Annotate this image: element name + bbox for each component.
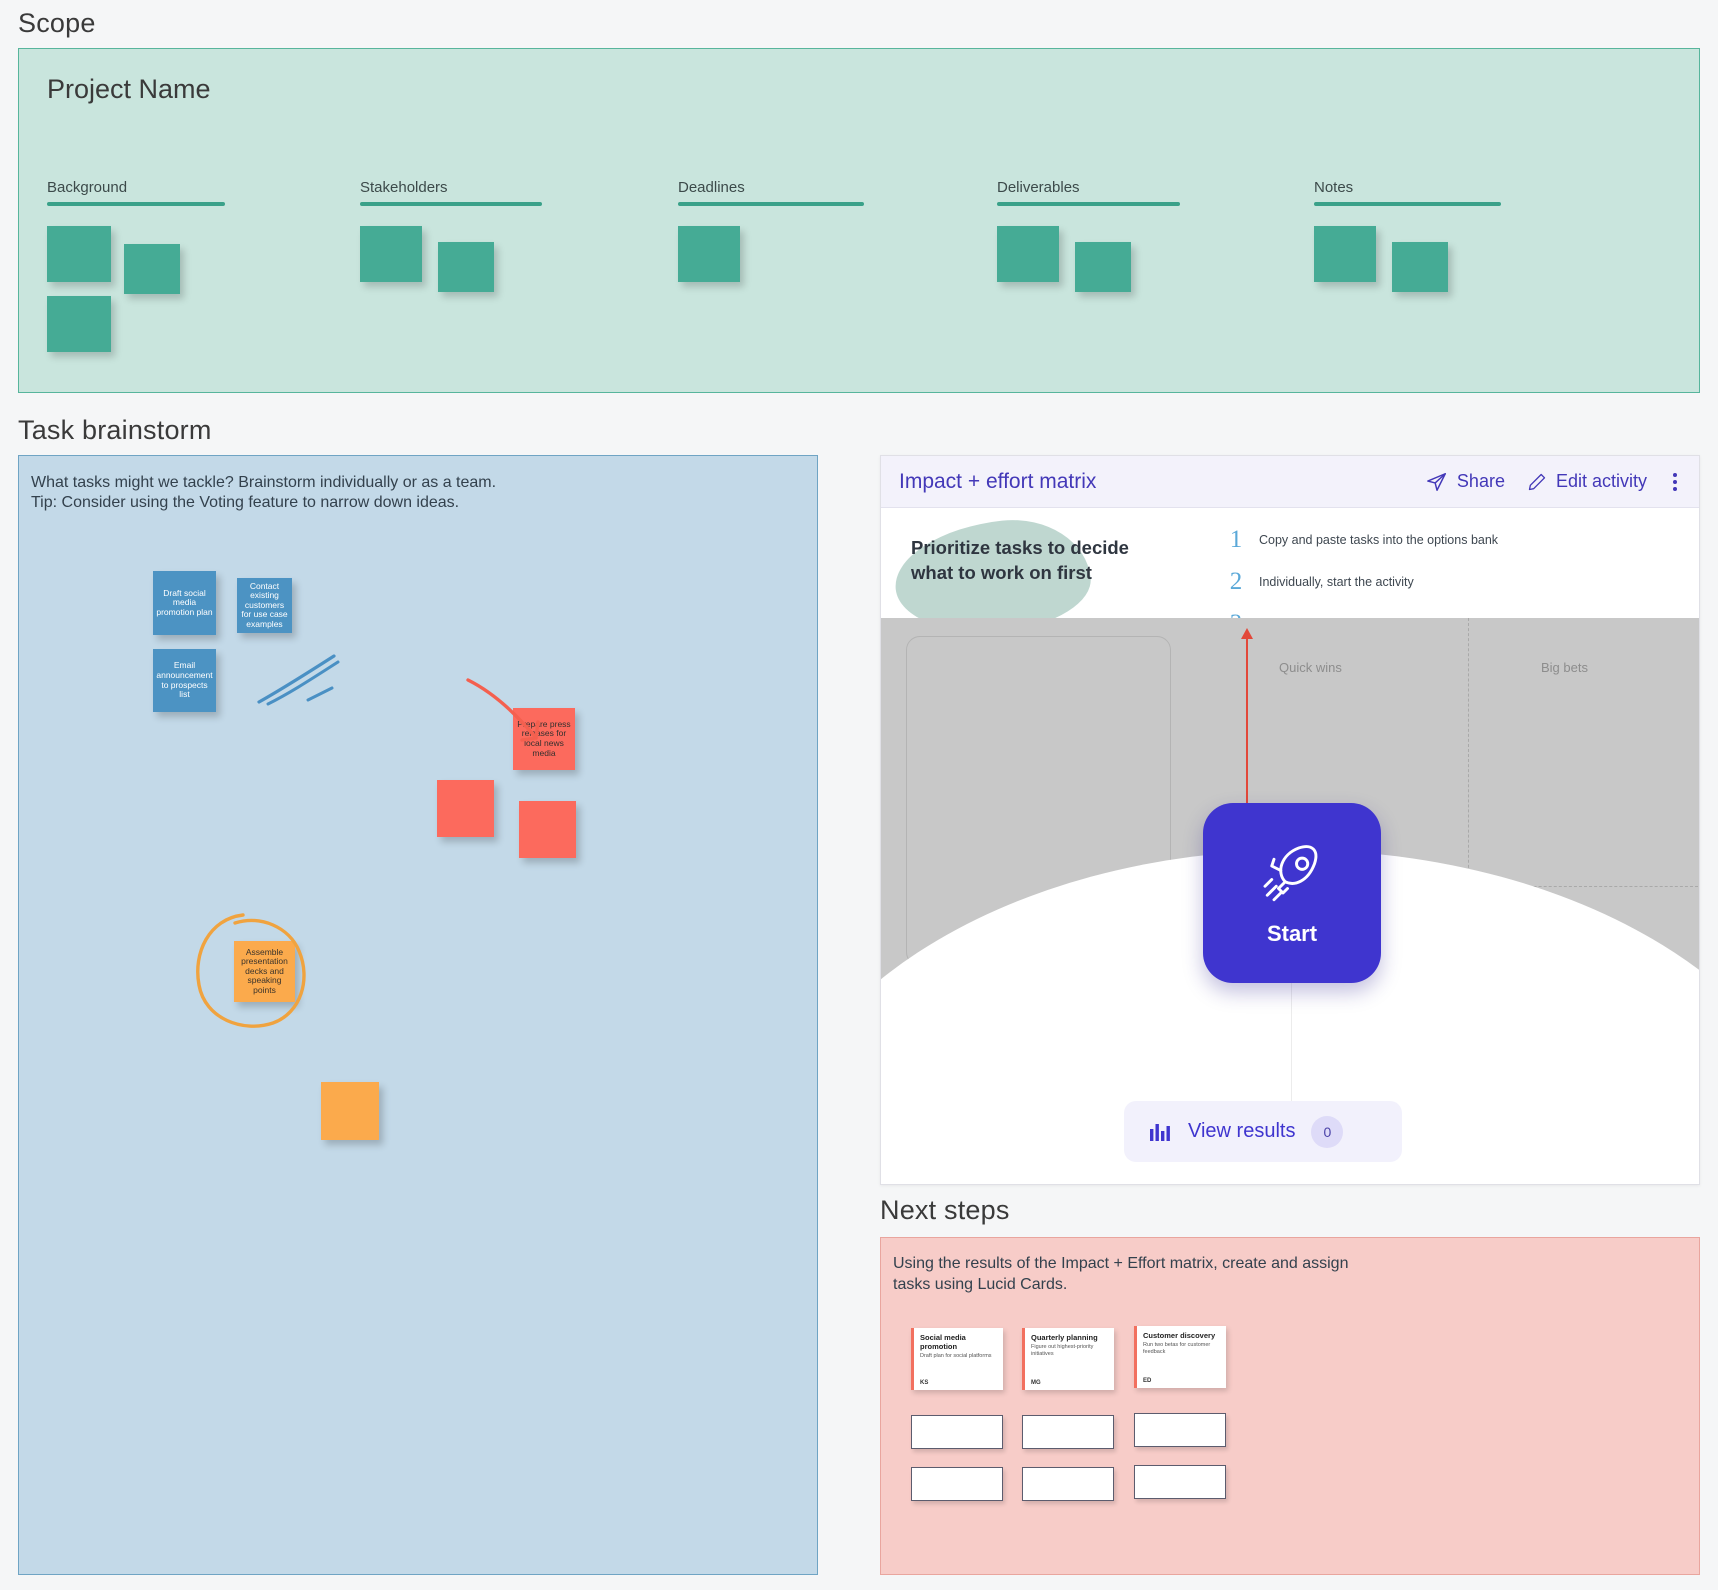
sticky-note-empty-orange[interactable]	[321, 1082, 379, 1140]
scope-column-deadlines: Deadlines	[678, 179, 864, 376]
lucid-card-customer-discovery[interactable]: Customer discovery Run two betas for cus…	[1134, 1326, 1226, 1388]
column-label: Background	[47, 179, 225, 202]
sticky-note-empty-red-2[interactable]	[519, 801, 576, 858]
sticky-note[interactable]	[360, 226, 422, 282]
column-label: Deliverables	[997, 179, 1180, 202]
quadrant-label-quick-wins: Quick wins	[1279, 660, 1342, 675]
lucid-card-quarterly-planning[interactable]: Quarterly planning Figure out highest-pr…	[1022, 1328, 1114, 1390]
column-rule	[997, 202, 1180, 206]
card-assignee-initials: ED	[1143, 1378, 1151, 1384]
sticky-note[interactable]	[47, 296, 111, 352]
next-steps-section-title: Next steps	[880, 1195, 1010, 1226]
activity-title: Impact + effort matrix	[899, 470, 1096, 494]
prompt-line-2: Tip: Consider using the Voting feature t…	[31, 493, 791, 513]
sticky-note-assemble-decks[interactable]: Assemble presentation decks and speaking…	[234, 941, 295, 1002]
step-number: 1	[1226, 526, 1246, 554]
scope-section-title: Scope	[18, 8, 96, 39]
quadrant-label-big-bets: Big bets	[1541, 660, 1588, 675]
instruction-heading: Prioritize tasks to decide what to work …	[911, 536, 1151, 585]
step-number: 2	[1226, 568, 1246, 596]
next-steps-frame: Using the results of the Impact + Effort…	[880, 1237, 1700, 1575]
scope-column-background: Background	[47, 179, 225, 376]
card-title: Customer discovery	[1143, 1331, 1220, 1340]
step-text: Individually, start the activity	[1259, 575, 1414, 589]
column-label: Notes	[1314, 179, 1501, 202]
card-assignee-initials: KS	[920, 1380, 928, 1386]
next-steps-prompt: Using the results of the Impact + Effort…	[893, 1253, 1653, 1295]
card-assignee-initials: MG	[1031, 1380, 1041, 1386]
column-rule	[360, 202, 542, 206]
note-cluster	[678, 226, 864, 376]
bar-chart-icon	[1148, 1120, 1172, 1144]
step-item: 1 Copy and paste tasks into the options …	[1226, 526, 1567, 554]
prompt-line-1: What tasks might we tackle? Brainstorm i…	[31, 473, 791, 493]
activity-header: Impact + effort matrix Share Edit activi…	[881, 456, 1699, 508]
sticky-note-empty-red-1[interactable]	[437, 780, 494, 837]
sticky-note[interactable]	[678, 226, 740, 282]
sticky-note[interactable]	[438, 242, 494, 292]
quadrant-divider-vertical	[1468, 618, 1469, 888]
sticky-note[interactable]	[1392, 242, 1448, 292]
empty-card-slot[interactable]	[1022, 1467, 1114, 1501]
brainstorm-prompt: What tasks might we tackle? Brainstorm i…	[31, 473, 791, 513]
lucid-card-social-media-promotion[interactable]: Social media promotion Draft plan for so…	[911, 1328, 1003, 1390]
sticky-note[interactable]	[1314, 226, 1376, 282]
pencil-icon	[1527, 472, 1547, 492]
impact-effort-activity-panel: Impact + effort matrix Share Edit activi…	[880, 455, 1700, 1185]
sticky-note-press-releases[interactable]: Prepare press releases for local news me…	[513, 708, 575, 770]
start-label: Start	[1267, 921, 1317, 947]
column-rule	[47, 202, 225, 206]
rocket-icon	[1256, 839, 1328, 911]
next-prompt-line-2: tasks using Lucid Cards.	[893, 1274, 1653, 1295]
share-button[interactable]: Share	[1426, 471, 1505, 493]
brainstorm-section-title: Task brainstorm	[18, 415, 212, 446]
empty-card-slot[interactable]	[911, 1415, 1003, 1449]
column-label: Stakeholders	[360, 179, 542, 202]
empty-card-slot[interactable]	[1134, 1413, 1226, 1447]
column-rule	[1314, 202, 1501, 206]
blue-scribble-doodle	[254, 652, 344, 712]
impact-effort-matrix: Quick wins Big bets Effort Start	[881, 618, 1699, 1185]
step-text: Copy and paste tasks into the options ba…	[1259, 533, 1498, 547]
brainstorm-frame: What tasks might we tackle? Brainstorm i…	[18, 455, 818, 1575]
note-cluster	[360, 226, 542, 376]
view-results-button[interactable]: View results 0	[1124, 1101, 1402, 1162]
start-button[interactable]: Start	[1203, 803, 1381, 983]
start-results-connector	[1291, 983, 1292, 1103]
sticky-note-contact-customers[interactable]: Contact existing customers for use case …	[237, 578, 292, 633]
note-cluster	[47, 226, 225, 376]
sticky-note[interactable]	[124, 244, 180, 294]
edit-activity-label: Edit activity	[1556, 471, 1647, 492]
step-item: 2 Individually, start the activity	[1226, 568, 1567, 596]
empty-card-slot[interactable]	[1022, 1415, 1114, 1449]
scope-column-stakeholders: Stakeholders	[360, 179, 542, 376]
sticky-note[interactable]	[1075, 242, 1131, 292]
send-icon	[1426, 471, 1448, 493]
note-cluster	[1314, 226, 1501, 376]
share-label: Share	[1457, 471, 1505, 492]
edit-activity-button[interactable]: Edit activity	[1527, 471, 1647, 492]
sticky-note-draft-social-media[interactable]: Draft social media promotion plan	[153, 571, 216, 635]
view-results-count: 0	[1311, 1116, 1343, 1148]
scope-column-notes: Notes	[1314, 179, 1501, 376]
card-title: Quarterly planning	[1031, 1333, 1108, 1342]
empty-card-slot[interactable]	[1134, 1465, 1226, 1499]
card-description: Figure out highest-priority initiatives	[1031, 1344, 1108, 1357]
scope-column-deliverables: Deliverables	[997, 179, 1180, 376]
scope-frame: Project Name Background Stakeholders Dea…	[18, 48, 1700, 393]
column-label: Deadlines	[678, 179, 864, 202]
sticky-note-email-announcement[interactable]: Email announcement to prospects list	[153, 649, 216, 712]
card-description: Run two betas for customer feedback	[1143, 1342, 1220, 1355]
project-name[interactable]: Project Name	[47, 74, 211, 105]
column-rule	[678, 202, 864, 206]
view-results-label: View results	[1188, 1120, 1295, 1143]
more-options-icon[interactable]	[1669, 473, 1681, 491]
sticky-note[interactable]	[47, 226, 111, 282]
empty-card-slot[interactable]	[911, 1467, 1003, 1501]
sticky-note[interactable]	[997, 226, 1059, 282]
card-description: Draft plan for social platforms	[920, 1353, 997, 1360]
card-title: Social media promotion	[920, 1333, 997, 1351]
note-cluster	[997, 226, 1180, 376]
activity-instructions: Prioritize tasks to decide what to work …	[881, 508, 1699, 618]
next-prompt-line-1: Using the results of the Impact + Effort…	[893, 1253, 1653, 1274]
activity-header-actions: Share Edit activity	[1426, 471, 1681, 493]
